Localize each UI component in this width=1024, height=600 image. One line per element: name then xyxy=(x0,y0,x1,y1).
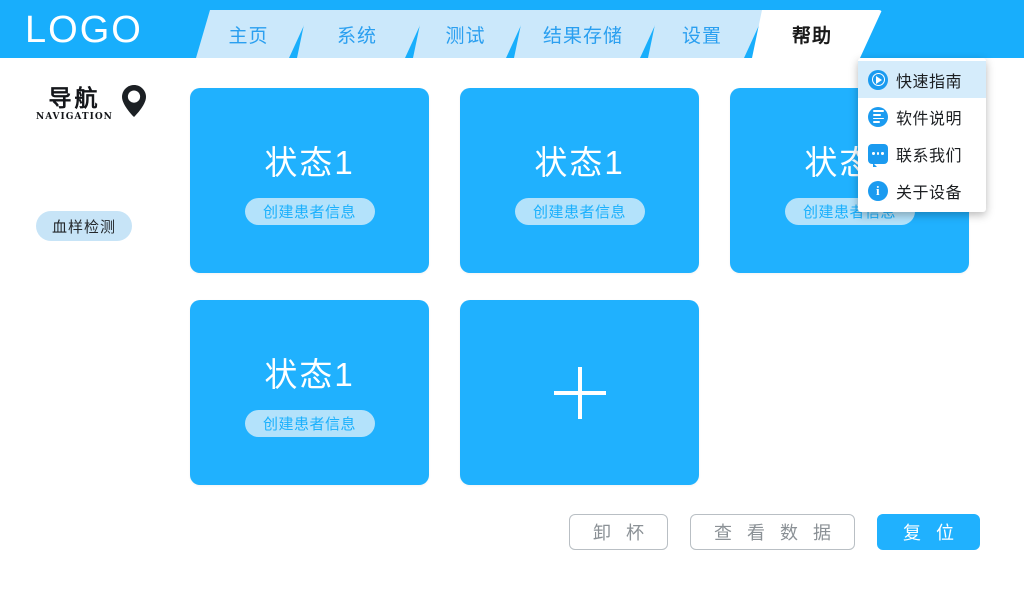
tab-home[interactable]: 主页 xyxy=(196,10,311,58)
sidebar-item-blood-test-label: 血样检测 xyxy=(52,216,116,237)
reset-button[interactable]: 复 位 xyxy=(877,514,980,550)
map-pin-icon xyxy=(121,84,147,123)
app-header: LOGO 主页 系统 测试 结果存储 设置 帮助 xyxy=(0,0,1024,58)
play-circle-icon xyxy=(868,70,888,90)
navigation-title-en: NAVIGATION xyxy=(36,111,113,124)
navigation-brand: 导航 NAVIGATION xyxy=(36,84,147,127)
sidebar-item-blood-test[interactable]: 血样检测 xyxy=(36,211,132,241)
tab-test[interactable]: 测试 xyxy=(413,10,528,58)
menu-item-contact-us-label: 联系我们 xyxy=(896,142,962,166)
footer-action-bar: 卸 杯 查 看 数 据 复 位 xyxy=(569,514,980,550)
create-patient-info-label-2: 创建患者信息 xyxy=(533,201,626,222)
create-patient-info-button-1[interactable]: 创建患者信息 xyxy=(245,198,375,225)
navigation-brand-text: 导航 NAVIGATION xyxy=(36,87,113,124)
tab-settings[interactable]: 设置 xyxy=(648,10,766,58)
status-card-2-title: 状态1 xyxy=(534,136,624,184)
create-patient-info-button-4[interactable]: 创建患者信息 xyxy=(245,410,375,437)
menu-item-quick-guide[interactable]: 快速指南 xyxy=(858,61,986,98)
reset-label: 复 位 xyxy=(898,519,959,545)
status-card-1-title: 状态1 xyxy=(264,136,354,184)
create-patient-info-label-1: 创建患者信息 xyxy=(263,201,356,222)
tab-result-storage-label: 结果存储 xyxy=(543,21,623,48)
tab-test-label: 测试 xyxy=(445,21,485,48)
unload-cup-button[interactable]: 卸 杯 xyxy=(569,514,668,550)
document-lines-icon xyxy=(868,107,888,127)
menu-item-about-device[interactable]: i 关于设备 xyxy=(858,172,986,209)
tab-home-label: 主页 xyxy=(228,21,268,48)
add-card-button[interactable] xyxy=(460,300,699,485)
plus-icon xyxy=(554,367,606,419)
menu-item-contact-us[interactable]: 联系我们 xyxy=(858,135,986,172)
tab-system[interactable]: 系统 xyxy=(297,10,427,58)
menu-item-software-manual-label: 软件说明 xyxy=(896,105,962,129)
app-root: LOGO 主页 系统 测试 结果存储 设置 帮助 导航 xyxy=(0,0,1024,600)
view-data-button[interactable]: 查 看 数 据 xyxy=(690,514,855,550)
sidebar: 导航 NAVIGATION 血样检测 xyxy=(0,58,190,600)
create-patient-info-label-4: 创建患者信息 xyxy=(263,413,356,434)
tab-result-storage[interactable]: 结果存储 xyxy=(514,10,662,58)
create-patient-info-button-2[interactable]: 创建患者信息 xyxy=(515,198,645,225)
tab-system-label: 系统 xyxy=(337,21,377,48)
view-data-label: 查 看 数 据 xyxy=(709,519,836,545)
menu-item-about-device-label: 关于设备 xyxy=(896,179,962,203)
card-row-2: 状态1 创建患者信息 xyxy=(190,300,980,485)
menu-item-software-manual[interactable]: 软件说明 xyxy=(858,98,986,135)
main-tab-bar: 主页 系统 测试 结果存储 设置 帮助 xyxy=(196,10,868,58)
status-card-4-title: 状态1 xyxy=(264,348,354,396)
tab-settings-label: 设置 xyxy=(682,21,722,48)
tab-help-label: 帮助 xyxy=(792,21,832,48)
menu-item-quick-guide-label: 快速指南 xyxy=(896,68,962,92)
status-card-1[interactable]: 状态1 创建患者信息 xyxy=(190,88,429,273)
tab-help[interactable]: 帮助 xyxy=(752,10,882,58)
navigation-title-cn: 导航 xyxy=(48,87,100,111)
status-card-2[interactable]: 状态1 创建患者信息 xyxy=(460,88,699,273)
info-circle-icon: i xyxy=(868,181,888,201)
app-logo: LOGO xyxy=(25,8,143,52)
unload-cup-label: 卸 杯 xyxy=(588,519,649,545)
help-dropdown-menu: 快速指南 软件说明 联系我们 i 关于设备 xyxy=(858,58,986,212)
chat-bubble-icon xyxy=(868,144,888,164)
status-card-4[interactable]: 状态1 创建患者信息 xyxy=(190,300,429,485)
